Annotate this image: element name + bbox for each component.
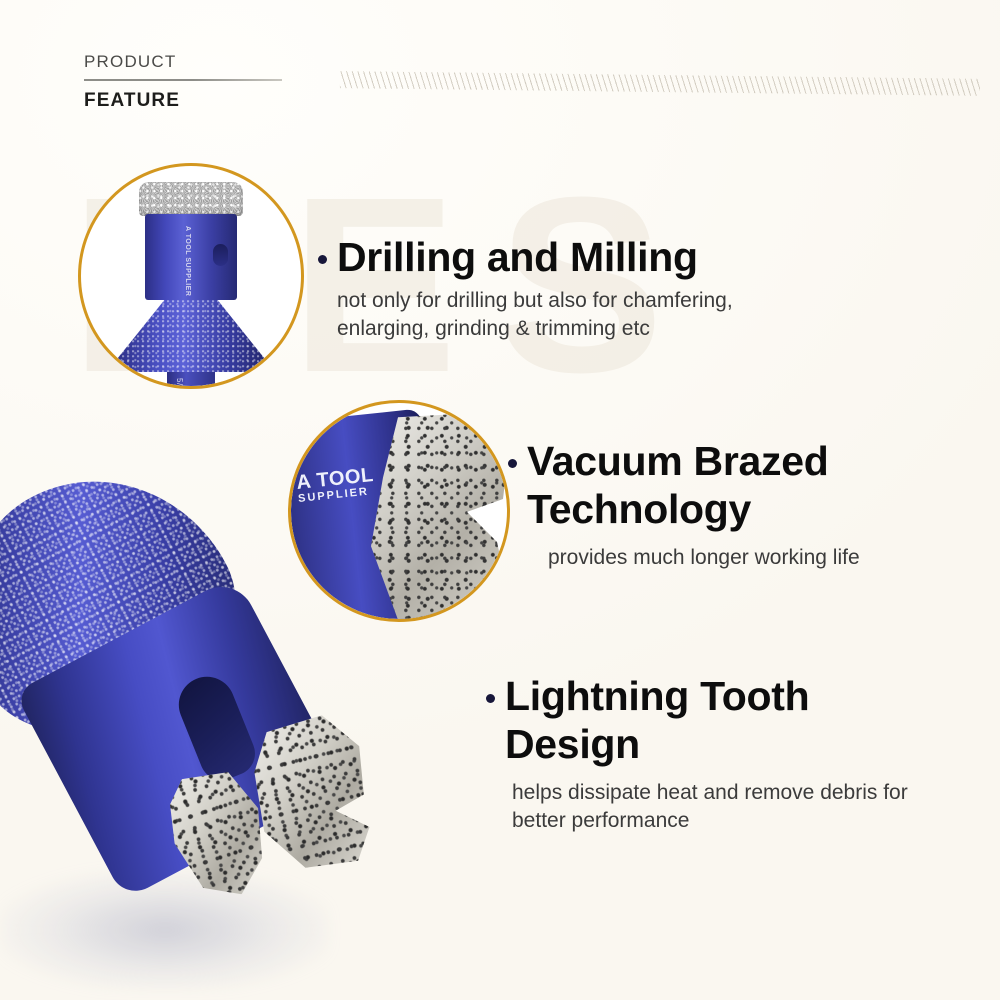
callout-circle-image: A TOOL SUPPLIER [291,403,507,619]
feature-description: not only for drilling but also for chamf… [337,287,818,343]
callout-circle-image: A TOOL SUPPLIER 5/8-11 [81,166,301,386]
bit-shank: 5/8-11 [167,372,215,386]
bullet-icon [486,694,495,703]
feature-block-lightning-tooth-design: Lightning Tooth Design helps dissipate h… [486,672,916,835]
callout-circle-brazed-crown: A TOOL SUPPLIER [288,400,510,622]
feature-heading-row: Lightning Tooth Design [486,672,916,769]
feature-block-vacuum-brazed-technology: Vacuum Brazed Technology provides much l… [508,437,928,572]
feature-description: provides much longer working life [548,544,928,572]
bit-brand-label: A TOOL SUPPLIER [184,226,191,296]
feature-title: Lightning Tooth Design [505,672,916,769]
callout-circle-drill-bit: A TOOL SUPPLIER 5/8-11 [78,163,304,389]
bit-barrel: A TOOL SUPPLIER [145,214,237,300]
header-divider [84,79,282,81]
feature-title: Drilling and Milling [337,233,698,281]
product-shadow [0,870,330,990]
feature-block-drilling-and-milling: Drilling and Milling not only for drilli… [318,233,818,343]
bit-side-slot [213,244,228,266]
bullet-icon [318,255,327,264]
drill-bit-illustration: A TOOL SUPPLIER 5/8-11 [128,182,254,386]
diamond-crown [139,182,243,216]
feature-heading-row: Drilling and Milling [318,233,818,281]
feature-description: helps dissipate heat and remove debris f… [512,779,916,835]
feature-heading-row: Vacuum Brazed Technology [508,437,928,534]
thread-size-label: 5/8-11 [175,378,184,386]
poster-header: PRODUCT FEATURE [84,52,294,112]
product-feature-poster: DES PRODUCT FEATURE A TOOL SUPPLIER 5/ [0,0,1000,1000]
page-title: FEATURE [84,90,294,112]
bit-cone [117,300,265,372]
bullet-icon [508,459,517,468]
hatch-pattern-decoration [340,71,980,96]
header-kicker: PRODUCT [84,52,294,72]
brazed-crown-illustration: A TOOL SUPPLIER [291,403,507,619]
feature-title: Vacuum Brazed Technology [527,437,928,534]
